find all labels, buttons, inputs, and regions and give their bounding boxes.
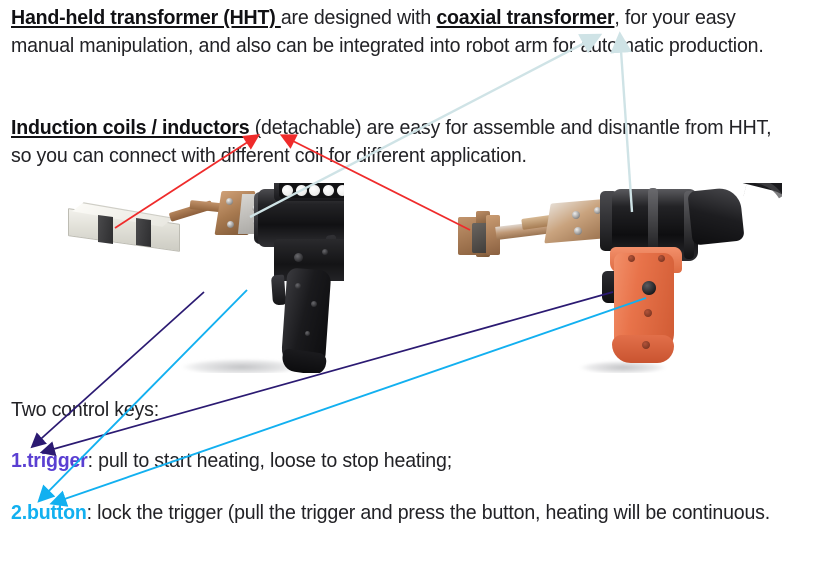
- bolt: [226, 198, 233, 205]
- led-lamp: [309, 185, 320, 196]
- emphasis-hand-held-transformer: Hand-held transformer (HHT): [11, 6, 281, 29]
- bolt: [227, 221, 234, 228]
- paragraph-intro: Hand-held transformer (HHT) are designed…: [11, 4, 790, 60]
- slide-page: Hand-held transformer (HHT) are designed…: [0, 0, 834, 567]
- control-key-2: 2.button: lock the trigger (pull the tri…: [11, 499, 790, 527]
- grip-hole: [642, 341, 650, 349]
- orange-gun-illustration: [452, 183, 782, 373]
- led-lamp: [296, 185, 307, 196]
- product-photo-orange-gun: [452, 183, 782, 373]
- ferrite-band: [98, 215, 113, 244]
- emphasis-coaxial-transformer: coaxial transformer: [436, 6, 614, 29]
- grip-foot: [612, 335, 674, 363]
- lock-button: [642, 281, 656, 295]
- control-key-1: 1.trigger: pull to start heating, loose …: [11, 447, 790, 475]
- screw: [295, 283, 301, 289]
- button-label: 2.button: [11, 501, 87, 524]
- screw: [294, 253, 303, 262]
- bolt: [574, 227, 582, 235]
- ferrite-band: [136, 218, 151, 247]
- trigger-label: 1.trigger: [11, 449, 88, 472]
- control-keys-heading: Two control keys:: [11, 396, 790, 424]
- led-window: [279, 183, 344, 198]
- intro-middle-text: are designed with: [281, 6, 436, 29]
- screw: [311, 301, 317, 307]
- screw: [305, 331, 310, 336]
- grip-hole: [644, 309, 652, 317]
- black-gun-illustration: [62, 183, 344, 373]
- bolt: [572, 211, 580, 219]
- trigger: [271, 275, 286, 306]
- screw: [322, 249, 328, 255]
- trigger-description: : pull to start heating, loose to stop h…: [88, 449, 452, 472]
- led-lamp: [282, 185, 293, 196]
- grip-hole: [628, 255, 635, 262]
- led-lamp: [323, 185, 334, 196]
- led-lamp: [337, 185, 344, 196]
- product-photo-black-gun: [62, 183, 344, 373]
- paragraph-induction-coils: Induction coils / inductors (detachable)…: [11, 114, 790, 170]
- grip-hole: [658, 255, 665, 262]
- emphasis-induction-coils: Induction coils / inductors: [11, 116, 255, 139]
- button-description: : lock the trigger (pull the trigger and…: [87, 501, 770, 524]
